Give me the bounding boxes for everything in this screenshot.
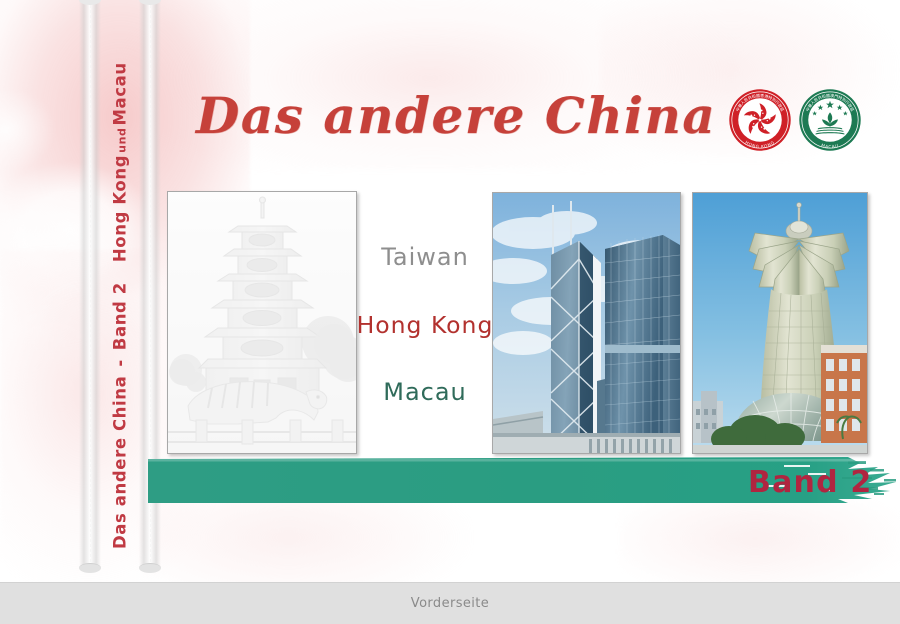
region-word-taiwan: Taiwan [355,245,495,269]
spine-volume: Band 2 [111,282,130,350]
region-word-macau: Macau [355,380,495,404]
spine-region-second: Macau [111,62,130,125]
spine-text: Das andere China-Band 2Hong KongundMacau [111,62,130,549]
hong-kong-emblem: 中華人民共和國香港特別行政區 HONG KONG [728,88,792,152]
spine-title: Das andere China [111,376,130,549]
band-number-label: Band 2 [748,465,872,500]
book-spine: Das andere China-Band 2Hong KongundMacau [90,0,150,567]
hong-kong-skyline-photo [492,192,681,454]
spine-region-first: Hong Kong [111,155,130,262]
footer-bar: Vorderseite [0,582,900,624]
footer-side-label: Vorderseite [411,596,489,611]
emblem-group: 中華人民共和國香港特別行政區 HONG KONG [728,88,862,152]
spine-region-conjunction: und [116,126,129,155]
cover-page-sheet: Das andere China-Band 2Hong KongundMacau… [0,0,900,582]
region-word-hong-kong: Hong Kong [355,314,495,338]
cover-title: Das andere China [196,86,716,145]
spine-separator: - [111,350,130,375]
region-word-list: Taiwan Hong Kong Macau [355,245,495,404]
cover-canvas: Das andere China-Band 2Hong KongundMacau… [0,0,900,623]
macau-emblem: 中華人民共和國澳門特別行政區 MACAU [798,88,862,152]
macau-grand-lisboa-photo [692,192,868,454]
taiwan-pagoda-photo [167,191,357,454]
